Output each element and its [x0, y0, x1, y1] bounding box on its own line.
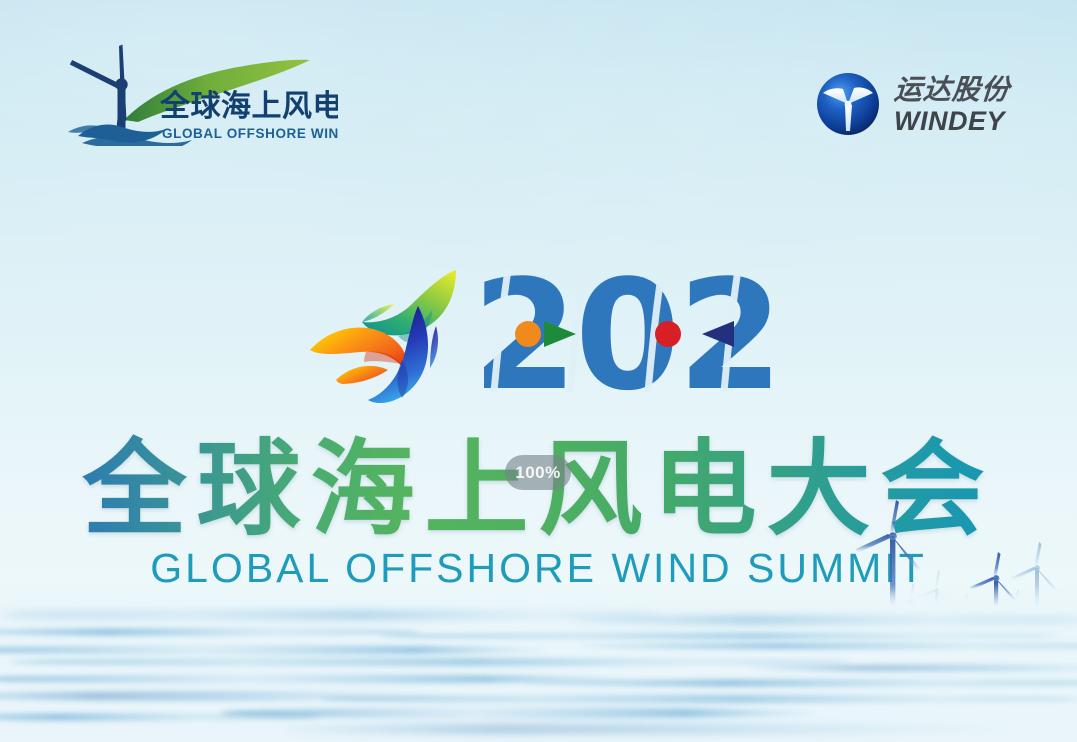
- global-offshore-wind-summit-logo: 全球海上风电大会 GLOBAL OFFSHORE WIND SUMMIT: [58, 24, 338, 146]
- accent-orange-dot: [515, 321, 541, 347]
- year-2024-logo: 2024: [472, 262, 772, 414]
- windey-sphere-icon: [815, 71, 881, 137]
- turbine-bg-3: [952, 594, 976, 644]
- poster-canvas: 全球海上风电大会 GLOBAL OFFSHORE WIND SUMMIT: [0, 0, 1077, 742]
- windey-english-text: WINDEY: [894, 108, 1010, 135]
- windey-wordmark: 运达股份 WINDEY: [894, 74, 1010, 135]
- zoom-level-badge[interactable]: 100%: [505, 455, 571, 490]
- turbine-bg-4: [1002, 589, 1028, 642]
- windey-chinese-text: 运达股份: [893, 76, 1011, 104]
- page-subtitle: GLOBAL OFFSHORE WIND SUMMIT: [0, 543, 1077, 593]
- accent-red-dot: [655, 321, 681, 347]
- windey-logo: 运达股份 WINDEY: [815, 66, 1030, 142]
- ocean-ripples: [0, 584, 1077, 742]
- pinwheel-emblem-icon: [306, 260, 466, 418]
- logo-english-text: GLOBAL OFFSHORE WIND SUMMIT: [162, 126, 338, 141]
- hero-emblem-and-year: 2024: [0, 258, 1077, 418]
- logo-chinese-text: 全球海上风电大会: [159, 89, 338, 124]
- orange-petal: [310, 327, 407, 384]
